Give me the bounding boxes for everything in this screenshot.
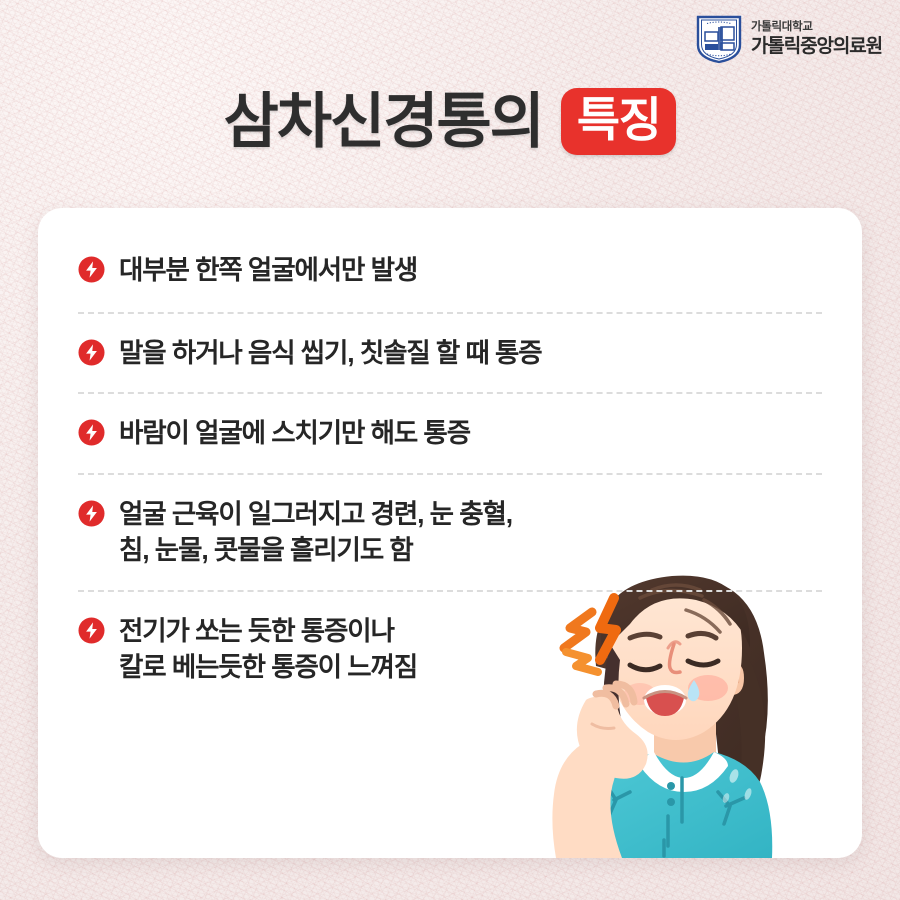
page-title: 삼차신경통의 특징 <box>0 88 900 155</box>
neck <box>654 716 716 772</box>
lightning-bolt-circle-icon <box>78 256 105 283</box>
list-item: 말을 하거나 음식 씹기, 칫솔질 할 때 통증 <box>78 335 822 372</box>
lightning-bolt-circle-icon <box>78 339 105 366</box>
hospital-logo: 가톨릭대학교 가톨릭중앙의료원 <box>696 14 882 64</box>
title-main-text: 삼차신경통의 <box>224 92 543 152</box>
features-card: 대부분 한쪽 얼굴에서만 발생 말을 하거나 음식 씹기, 칫솔질 할 때 통증… <box>38 208 862 858</box>
blush-left <box>624 683 656 705</box>
list-item-text: 전기가 쏘는 듯한 통증이나 칼로 베는듯한 통증이 느껴짐 <box>119 613 417 686</box>
fingers <box>596 684 634 706</box>
infographic-poster: 가톨릭대학교 가톨릭중앙의료원 삼차신경통의 특징 <box>0 0 900 900</box>
collar <box>640 752 728 792</box>
arm <box>552 744 622 858</box>
mouth-open <box>646 692 684 716</box>
list-divider <box>78 473 822 475</box>
list-item-text: 말을 하거나 음식 씹기, 칫솔질 할 때 통증 <box>119 335 542 372</box>
sleeve-fold-right <box>718 792 744 824</box>
shirt-fold <box>664 816 668 856</box>
mouth-outline <box>644 685 686 715</box>
list-item-text: 얼굴 근육이 일그러지고 경련, 눈 충혈, 침, 눈물, 콧물을 흘리기도 함 <box>119 496 512 569</box>
list-item: 얼굴 근육이 일그러지고 경련, 눈 충혈, 침, 눈물, 콧물을 흘리기도 함 <box>78 496 822 569</box>
lightning-bolt-circle-icon <box>78 500 105 527</box>
button-top <box>667 782 675 790</box>
list-item: 바람이 얼굴에 스치기만 해도 통증 <box>78 415 822 452</box>
shirt <box>574 752 772 858</box>
sleeve-fold-left <box>606 784 630 818</box>
button-bottom <box>667 798 675 806</box>
list-item: 대부분 한쪽 얼굴에서만 발생 <box>78 252 822 291</box>
lightning-bolt-circle-icon <box>78 617 105 644</box>
feature-list: 대부분 한쪽 얼굴에서만 발생 말을 하거나 음식 씹기, 칫솔질 할 때 통증… <box>38 208 862 686</box>
list-item: 전기가 쏘는 듯한 통증이나 칼로 베는듯한 통증이 느껴짐 <box>78 613 822 686</box>
list-divider <box>78 392 822 394</box>
list-divider <box>78 590 822 592</box>
lightning-bolt-circle-icon <box>78 419 105 446</box>
list-item-text: 바람이 얼굴에 스치기만 해도 통증 <box>119 415 470 452</box>
list-item-text: 대부분 한쪽 얼굴에서만 발생 <box>119 252 417 289</box>
title-badge: 특징 <box>561 88 676 155</box>
hand <box>577 696 648 779</box>
logo-medical-center-name: 가톨릭중앙의료원 <box>751 37 882 56</box>
catholic-shield-crest-icon <box>696 14 742 64</box>
logo-wordmark: 가톨릭대학교 가톨릭중앙의료원 <box>751 22 882 56</box>
logo-university-name: 가톨릭대학교 <box>751 22 882 34</box>
list-divider <box>78 312 822 314</box>
